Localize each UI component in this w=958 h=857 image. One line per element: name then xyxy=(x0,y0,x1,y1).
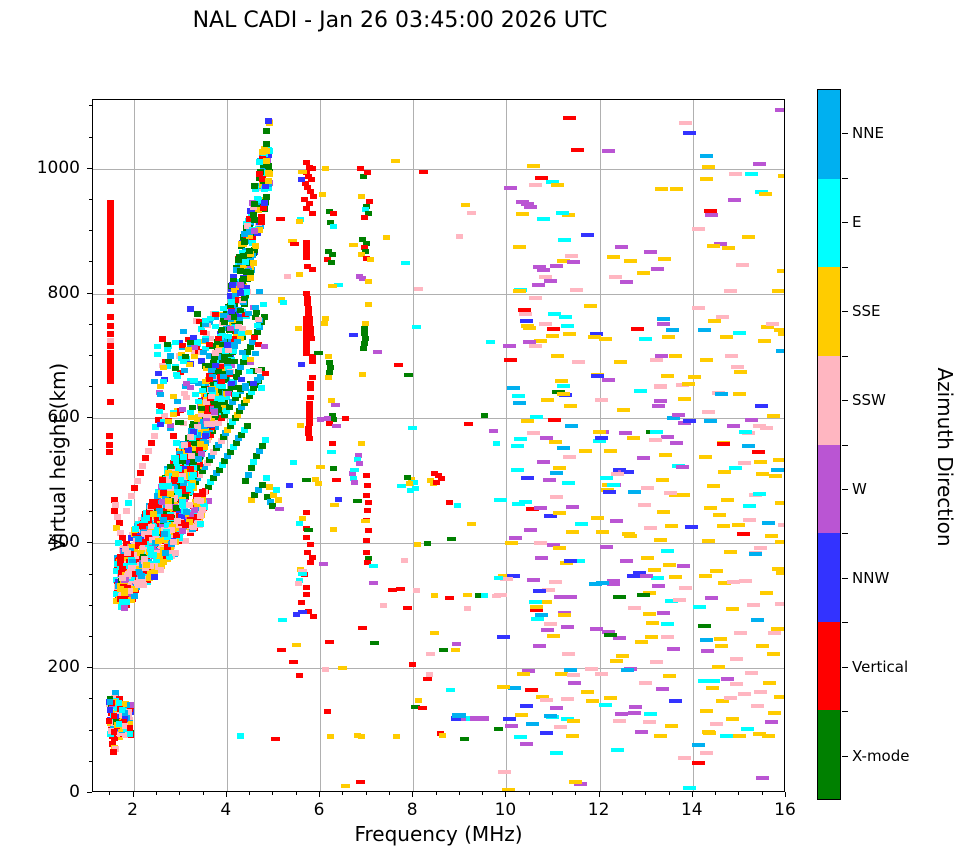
echo-marker xyxy=(208,387,215,392)
echo-marker xyxy=(241,296,248,301)
y-tick xyxy=(87,792,92,793)
echo-marker xyxy=(140,582,147,588)
echo-marker xyxy=(670,441,683,445)
echo-marker xyxy=(584,304,597,308)
x-tick xyxy=(645,792,646,795)
echo-marker xyxy=(409,662,416,667)
echo-marker xyxy=(172,455,179,461)
y-tick xyxy=(87,168,92,169)
echo-marker xyxy=(678,756,691,760)
echo-marker xyxy=(330,224,337,229)
echo-marker xyxy=(445,596,454,600)
colorbar-boundary-tick xyxy=(842,267,848,268)
echo-marker xyxy=(651,576,664,580)
echo-marker xyxy=(683,419,696,423)
plot-area[interactable] xyxy=(92,99,785,792)
y-tick xyxy=(89,137,92,138)
echo-marker xyxy=(314,351,323,355)
echo-marker xyxy=(202,433,209,439)
echo-marker xyxy=(539,322,552,326)
echo-marker xyxy=(658,257,671,261)
echo-marker xyxy=(654,399,667,403)
echo-marker xyxy=(252,305,259,310)
echo-marker xyxy=(489,429,498,433)
echo-marker xyxy=(504,186,517,190)
echo-marker xyxy=(756,644,769,648)
echo-marker xyxy=(670,187,683,191)
echo-marker xyxy=(581,233,594,237)
gridline-vertical xyxy=(320,100,321,791)
echo-marker xyxy=(159,336,166,342)
colorbar-segment-ssw[interactable] xyxy=(818,356,840,445)
echo-marker xyxy=(252,351,259,356)
echo-marker xyxy=(123,508,130,514)
echo-marker xyxy=(621,668,634,672)
echo-marker xyxy=(116,700,122,706)
echo-marker xyxy=(727,424,740,428)
echo-marker xyxy=(431,593,438,598)
echo-marker xyxy=(561,625,574,629)
colorbar-segment-w[interactable] xyxy=(818,445,840,534)
echo-marker xyxy=(742,235,755,239)
echo-marker xyxy=(156,409,163,414)
echo-marker xyxy=(107,699,113,705)
echo-marker xyxy=(704,419,717,423)
echo-marker xyxy=(404,475,411,480)
echo-marker xyxy=(513,401,526,405)
colorbar-label-e: E xyxy=(852,213,861,231)
echo-marker xyxy=(131,593,138,599)
echo-marker xyxy=(700,358,713,362)
echo-marker xyxy=(413,588,420,593)
echo-marker xyxy=(732,523,745,527)
echo-marker xyxy=(760,591,773,595)
echo-marker xyxy=(134,478,141,484)
echo-marker xyxy=(567,260,580,264)
echo-marker xyxy=(550,751,563,755)
colorbar-segment-x-mode[interactable] xyxy=(818,710,840,799)
echo-marker xyxy=(724,696,737,700)
echo-marker xyxy=(342,416,349,421)
echo-marker xyxy=(659,453,672,457)
x-tick-label: 8 xyxy=(407,800,418,820)
echo-marker xyxy=(259,482,266,488)
colorbar-tick xyxy=(842,133,848,134)
echo-marker xyxy=(396,587,405,591)
echo-marker xyxy=(761,325,774,329)
colorbar-segment-vertical[interactable] xyxy=(818,622,840,711)
echo-marker xyxy=(699,574,712,578)
echo-marker xyxy=(324,709,331,714)
echo-marker xyxy=(698,328,711,332)
echo-marker xyxy=(298,600,305,605)
echo-marker xyxy=(604,696,617,700)
echo-marker xyxy=(298,170,307,174)
echo-marker xyxy=(256,289,263,294)
echo-marker xyxy=(219,384,226,389)
echo-marker xyxy=(481,593,488,598)
echo-marker xyxy=(165,498,172,504)
echo-marker xyxy=(231,359,238,364)
echo-marker xyxy=(187,385,194,390)
echo-marker xyxy=(164,342,171,347)
echo-marker xyxy=(242,386,249,391)
echo-marker xyxy=(414,542,421,547)
echo-marker xyxy=(284,274,291,279)
echo-marker xyxy=(600,545,613,549)
x-tick xyxy=(319,792,320,797)
colorbar-segment-e[interactable] xyxy=(818,179,840,268)
gridline-horizontal xyxy=(93,169,784,170)
x-tick xyxy=(412,792,413,797)
echo-marker xyxy=(762,521,775,525)
echo-marker xyxy=(596,581,609,585)
echo-marker xyxy=(619,431,632,435)
y-tick xyxy=(89,511,92,512)
echo-marker xyxy=(707,244,720,248)
echo-marker xyxy=(524,205,537,209)
echo-marker xyxy=(181,368,188,373)
echo-marker xyxy=(358,441,365,446)
echo-marker xyxy=(683,131,696,135)
echo-marker xyxy=(682,382,695,386)
echo-marker xyxy=(307,386,314,391)
colorbar-label-ssw: SSW xyxy=(852,391,886,409)
echo-marker xyxy=(736,263,749,267)
echo-marker xyxy=(414,287,423,291)
echo-marker xyxy=(165,419,172,424)
echo-marker xyxy=(319,192,326,197)
echo-marker xyxy=(335,497,342,502)
x-tick xyxy=(482,792,483,795)
echo-marker xyxy=(561,324,574,328)
colorbar-boundary-tick xyxy=(842,533,848,534)
echo-marker xyxy=(502,788,515,792)
y-tick xyxy=(89,761,92,762)
echo-marker xyxy=(188,415,195,420)
echo-marker xyxy=(544,714,557,718)
echo-marker xyxy=(256,159,263,165)
echo-marker xyxy=(604,449,617,453)
echo-marker xyxy=(527,431,540,435)
x-tick xyxy=(179,792,180,795)
echo-marker xyxy=(151,379,158,384)
echo-marker xyxy=(298,177,305,182)
echo-marker xyxy=(613,595,626,599)
echo-marker xyxy=(562,652,575,656)
echo-marker xyxy=(192,392,199,397)
echo-marker xyxy=(753,492,766,496)
echo-marker xyxy=(228,381,235,386)
echo-marker xyxy=(227,326,234,331)
echo-marker xyxy=(451,648,460,652)
echo-marker xyxy=(705,596,718,600)
echo-marker xyxy=(138,573,145,579)
echo-marker xyxy=(191,354,198,359)
echo-marker xyxy=(656,478,669,482)
echo-marker xyxy=(720,335,733,339)
echo-marker xyxy=(419,170,428,174)
echo-marker xyxy=(424,541,431,546)
echo-marker xyxy=(447,537,456,541)
echo-marker xyxy=(361,519,370,523)
echo-marker xyxy=(734,631,747,635)
x-tick xyxy=(459,792,460,795)
echo-marker xyxy=(135,536,142,542)
echo-marker xyxy=(520,319,533,323)
echo-marker xyxy=(551,354,564,358)
echo-marker xyxy=(768,711,781,715)
echo-marker xyxy=(590,627,603,631)
echo-marker xyxy=(353,499,362,503)
echo-marker xyxy=(197,513,204,519)
echo-marker xyxy=(187,466,194,472)
echo-marker xyxy=(775,108,785,112)
echo-marker xyxy=(202,318,209,323)
echo-marker xyxy=(565,424,578,428)
y-tick xyxy=(89,261,92,262)
echo-marker xyxy=(263,475,270,481)
echo-marker xyxy=(706,686,719,690)
echo-marker xyxy=(258,219,265,225)
echo-marker xyxy=(767,652,780,656)
y-tick xyxy=(89,230,92,231)
echo-marker xyxy=(572,360,585,364)
x-tick xyxy=(272,792,273,795)
echo-marker xyxy=(361,215,368,220)
y-tick xyxy=(89,698,92,699)
page-title: NAL CADI - Jan 26 03:45:00 2026 UTC xyxy=(0,8,800,33)
x-tick xyxy=(156,792,157,795)
echo-marker xyxy=(162,550,169,556)
echo-marker xyxy=(329,441,336,446)
echo-marker xyxy=(170,412,177,417)
echo-marker xyxy=(456,234,463,239)
echo-marker xyxy=(322,166,329,171)
echo-marker xyxy=(170,433,177,439)
echo-marker xyxy=(564,559,577,563)
echo-marker xyxy=(702,410,715,414)
echo-marker xyxy=(739,430,752,434)
echo-marker xyxy=(700,154,713,158)
echo-marker xyxy=(566,734,579,738)
y-tick xyxy=(89,636,92,637)
echo-marker xyxy=(237,268,244,274)
echo-marker xyxy=(235,257,242,263)
echo-marker xyxy=(776,349,785,353)
echo-marker xyxy=(319,562,328,566)
echo-marker xyxy=(239,350,246,355)
echo-marker xyxy=(527,164,540,168)
echo-marker xyxy=(530,605,543,609)
y-tick-label: 1000 xyxy=(0,158,80,178)
echo-marker xyxy=(535,613,548,617)
echo-marker xyxy=(555,672,568,676)
echo-marker xyxy=(327,450,336,454)
x-tick-label: 16 xyxy=(774,800,796,820)
echo-marker xyxy=(705,213,718,217)
echo-marker xyxy=(276,217,285,221)
echo-marker xyxy=(208,421,215,427)
echo-marker xyxy=(520,704,533,708)
echo-marker xyxy=(753,162,766,166)
echo-marker xyxy=(481,413,488,418)
echo-marker xyxy=(365,279,372,284)
echo-marker xyxy=(715,392,728,396)
echo-marker xyxy=(307,560,314,565)
echo-marker xyxy=(503,717,516,721)
echo-marker xyxy=(273,487,280,493)
echo-marker xyxy=(721,498,734,502)
echo-marker xyxy=(412,325,421,329)
colorbar-segment-sse[interactable] xyxy=(818,267,840,356)
y-tick xyxy=(87,542,92,543)
echo-marker xyxy=(150,511,157,517)
gridline-vertical xyxy=(413,100,414,791)
y-tick xyxy=(89,449,92,450)
echo-marker xyxy=(702,730,715,734)
colorbar[interactable] xyxy=(817,89,841,800)
echo-marker xyxy=(742,444,755,448)
echo-marker xyxy=(179,528,186,534)
echo-marker xyxy=(197,521,204,527)
echo-marker xyxy=(121,605,128,611)
echo-marker xyxy=(220,306,227,311)
echo-marker xyxy=(535,556,548,560)
echo-marker xyxy=(515,713,528,717)
echo-marker xyxy=(356,780,365,784)
echo-marker xyxy=(397,484,406,488)
echo-marker xyxy=(175,489,182,495)
echo-marker xyxy=(364,170,371,175)
x-tick xyxy=(575,792,576,795)
colorbar-tick xyxy=(842,667,848,668)
echo-marker xyxy=(640,574,653,578)
echo-marker xyxy=(535,176,548,180)
echo-marker xyxy=(369,564,378,568)
echo-marker xyxy=(700,751,713,755)
echo-marker xyxy=(188,483,195,489)
echo-marker xyxy=(237,290,244,296)
echo-marker xyxy=(546,334,559,338)
echo-marker xyxy=(248,465,255,471)
echo-marker xyxy=(567,673,580,677)
echo-marker xyxy=(550,495,563,499)
echo-marker xyxy=(700,709,713,713)
echo-marker xyxy=(650,430,663,434)
echo-marker xyxy=(250,381,257,386)
echo-marker xyxy=(391,159,400,163)
colorbar-segment-nnw[interactable] xyxy=(818,533,840,622)
echo-marker xyxy=(715,644,728,648)
echo-marker xyxy=(215,348,222,353)
echo-marker xyxy=(107,399,114,405)
echo-marker xyxy=(369,581,378,585)
echo-marker xyxy=(237,733,244,739)
x-tick xyxy=(249,792,250,795)
echo-marker xyxy=(394,363,403,367)
echo-marker xyxy=(188,453,195,459)
echo-marker xyxy=(637,271,650,275)
echo-marker xyxy=(661,435,674,439)
echo-marker xyxy=(657,611,670,615)
echo-marker xyxy=(566,530,579,534)
echo-marker xyxy=(298,610,307,614)
echo-marker xyxy=(679,121,692,125)
echo-marker xyxy=(547,634,560,638)
echo-marker xyxy=(774,695,785,699)
echo-marker xyxy=(503,344,516,348)
echo-marker xyxy=(665,724,678,728)
echo-marker xyxy=(707,679,720,683)
echo-marker xyxy=(637,593,650,597)
x-tick xyxy=(505,792,506,797)
echo-marker xyxy=(557,384,570,388)
echo-marker xyxy=(206,342,213,347)
echo-marker xyxy=(467,522,476,526)
echo-marker xyxy=(119,707,125,713)
echo-marker xyxy=(661,622,674,626)
echo-marker xyxy=(246,369,253,374)
echo-marker xyxy=(692,227,705,231)
echo-marker xyxy=(733,734,746,738)
echo-marker xyxy=(615,245,628,249)
echo-marker xyxy=(544,279,557,283)
echo-marker xyxy=(303,510,310,515)
echo-marker xyxy=(160,559,167,565)
echo-marker xyxy=(498,770,511,774)
echo-marker xyxy=(309,359,316,364)
echo-marker xyxy=(452,642,461,646)
echo-marker xyxy=(554,725,567,729)
x-tick xyxy=(296,792,297,795)
echo-marker xyxy=(107,378,114,384)
echo-marker xyxy=(637,456,650,460)
colorbar-label-w: W xyxy=(852,480,867,498)
echo-marker xyxy=(107,298,114,304)
colorbar-segment-nne[interactable] xyxy=(818,90,840,179)
echo-marker xyxy=(245,330,252,335)
echo-marker xyxy=(182,354,189,359)
echo-marker xyxy=(292,643,301,647)
echo-marker xyxy=(516,200,529,204)
y-axis-title: Virtual height (km) xyxy=(46,307,70,607)
ionogram-figure: NAL CADI - Jan 26 03:45:00 2026 UTC 2468… xyxy=(0,0,958,857)
echo-marker xyxy=(127,725,133,731)
echo-marker xyxy=(657,322,670,326)
echo-marker xyxy=(493,441,500,446)
echo-marker xyxy=(529,296,542,300)
echo-marker xyxy=(262,437,269,443)
echo-marker xyxy=(330,211,337,216)
echo-marker xyxy=(363,538,370,543)
echo-marker xyxy=(558,238,571,242)
echo-marker xyxy=(533,644,546,648)
echo-marker xyxy=(106,433,113,439)
x-tick xyxy=(552,792,553,795)
echo-marker xyxy=(767,414,780,418)
echo-marker xyxy=(662,335,675,339)
echo-marker xyxy=(657,510,670,514)
echo-marker xyxy=(700,177,713,181)
x-tick xyxy=(133,792,134,797)
echo-marker xyxy=(707,484,720,488)
echo-marker xyxy=(211,409,218,415)
echo-marker xyxy=(641,486,654,490)
echo-marker xyxy=(187,410,194,415)
echo-marker xyxy=(778,523,785,527)
x-tick xyxy=(738,792,739,795)
